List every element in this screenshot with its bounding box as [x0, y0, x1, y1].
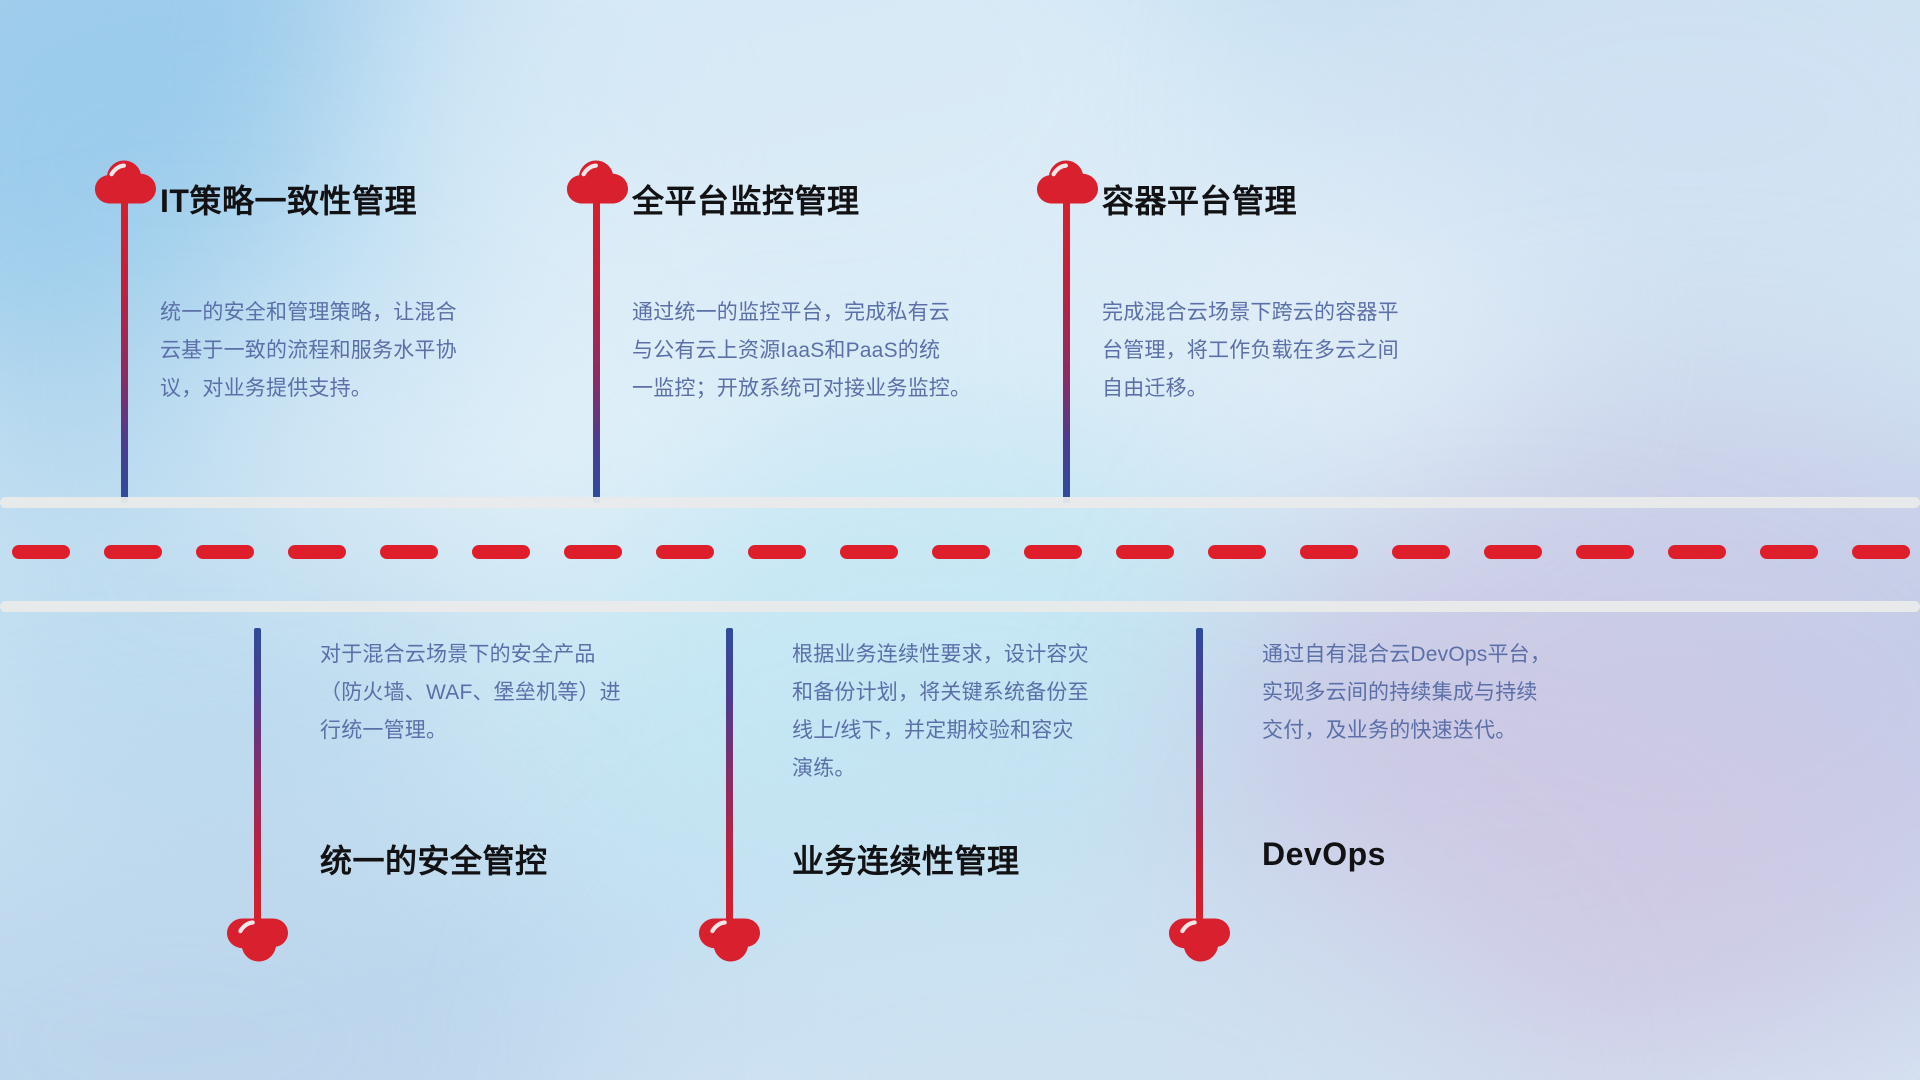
road-dash [472, 545, 530, 559]
road-dash [1852, 545, 1910, 559]
card-title: 容器平台管理 [1102, 176, 1297, 222]
infographic-canvas: IT策略一致性管理 统一的安全和管理策略，让混合 云基于一致的流程和服务水平协 … [0, 0, 1920, 1080]
card-body: 通过统一的监控平台，完成私有云 与公有云上资源IaaS和PaaS的统 一监控；开… [632, 294, 1092, 408]
card-body: 对于混合云场景下的安全产品 （防火墙、WAF、堡垒机等）进 行统一管理。 [320, 636, 750, 750]
card-title: 全平台监控管理 [632, 176, 860, 222]
road-dash [1576, 545, 1634, 559]
road-rail-top [0, 497, 1920, 508]
road-dash [1484, 545, 1542, 559]
road-dash [1668, 545, 1726, 559]
road-dash [196, 545, 254, 559]
road-dash [1024, 545, 1082, 559]
road-dash [1116, 545, 1174, 559]
card-body: 根据业务连续性要求，设计容灾 和备份计划，将关键系统备份至 线上/线下，并定期校… [792, 636, 1232, 788]
card-body: 通过自有混合云DevOps平台， 实现多云间的持续集成与持续 交付，及业务的快速… [1262, 636, 1702, 750]
road-rail-bottom [0, 601, 1920, 612]
card-title: IT策略一致性管理 [160, 176, 417, 222]
road-dash [1300, 545, 1358, 559]
card-title: DevOps [1262, 836, 1386, 873]
road-dash [932, 545, 990, 559]
cloud-icon [227, 918, 289, 962]
card-title: 统一的安全管控 [320, 836, 548, 882]
cloud-icon [699, 918, 761, 962]
card-body: 完成混合云场景下跨云的容器平 台管理，将工作负载在多云之间 自由迁移。 [1102, 294, 1552, 408]
road-dash [564, 545, 622, 559]
card-title: 业务连续性管理 [792, 836, 1020, 882]
road-dash [1208, 545, 1266, 559]
road-dash [12, 545, 70, 559]
road-dash [380, 545, 438, 559]
road-dash [1392, 545, 1450, 559]
road-center-dashes [0, 545, 1920, 559]
road-dash [840, 545, 898, 559]
road-dash [1760, 545, 1818, 559]
cloud-icon [1169, 918, 1231, 962]
road-dash [104, 545, 162, 559]
road-dash [656, 545, 714, 559]
road-dash [748, 545, 806, 559]
card-body: 统一的安全和管理策略，让混合 云基于一致的流程和服务水平协 议，对业务提供支持。 [160, 294, 590, 408]
road-dash [288, 545, 346, 559]
